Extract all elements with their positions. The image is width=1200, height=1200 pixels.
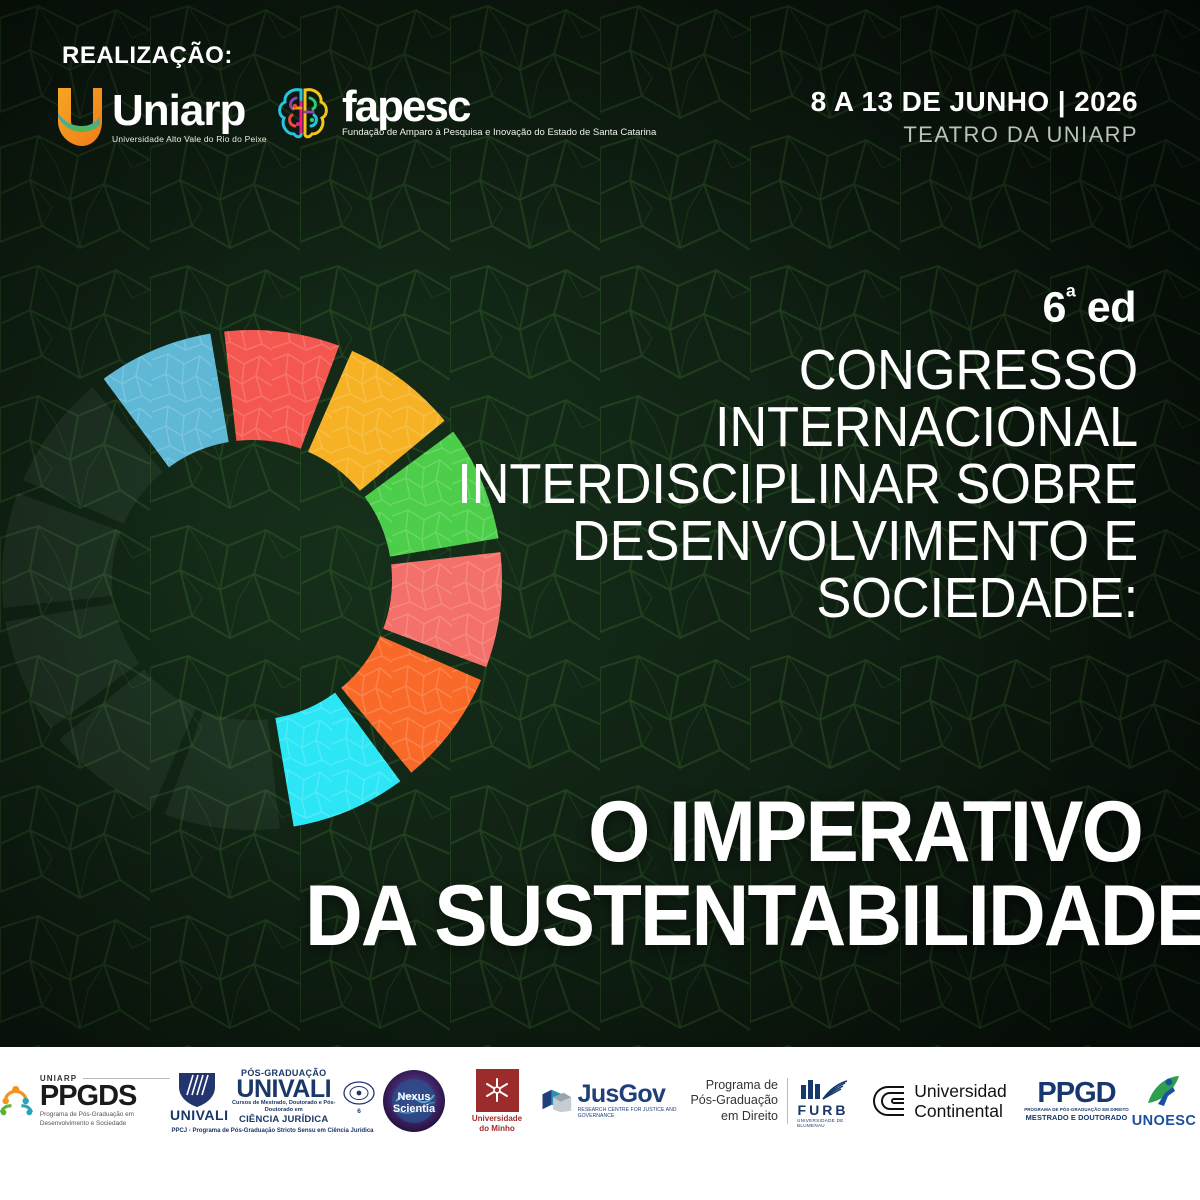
footer: UNIARP PPGDS Programa de Pós-Graduação e… xyxy=(0,1047,1200,1200)
edition-number: 6 xyxy=(1042,283,1065,331)
minho-mark xyxy=(476,1069,519,1112)
jusgov-wordmark: JusGov xyxy=(578,1083,681,1107)
event-venue: TEATRO DA UNIARP xyxy=(811,122,1138,148)
svg-text:6: 6 xyxy=(357,1108,361,1114)
sponsor-jusgov: JusGov RESEARCH CENTRE FOR JUSTICE AND G… xyxy=(541,1058,681,1144)
title-line-1: CONGRESSO xyxy=(402,342,1138,399)
congress-title: CONGRESSO INTERNACIONAL INTERDISCIPLINAR… xyxy=(402,342,1138,627)
ppgds-rule xyxy=(83,1078,170,1079)
jusgov-tagline: RESEARCH CENTRE FOR JUSTICE AND GOVERNAN… xyxy=(578,1107,681,1119)
uniarp-u-icon xyxy=(52,86,104,148)
edition-badge: 6ª ed xyxy=(1042,282,1136,332)
header: REALIZAÇÃO: Uniarp Universidade Alto Val… xyxy=(0,0,1200,180)
furb-tagline: UNIVERSIDADE DE BLUMENAU xyxy=(797,1118,849,1128)
sponsor-ppgds: UNIARP PPGDS Programa de Pós-Graduação e… xyxy=(0,1058,170,1144)
uniarp-wordmark: Uniarp xyxy=(112,90,267,132)
sponsor-minho: Universidadedo Minho xyxy=(453,1058,541,1144)
univali-courses-label: Cursos de Mestrado, Doutorado e Pós-Dout… xyxy=(228,1100,339,1114)
sponsor-continental: UniversidadContinental xyxy=(849,1058,1024,1144)
uniarp-tagline: Universidade Alto Vale do Rio do Peixe xyxy=(112,134,267,144)
nexus-scientia-icon: Nexus Scientia xyxy=(382,1069,446,1133)
continental-label: UniversidadContinental xyxy=(914,1081,1006,1122)
title-line-3: INTERDISCIPLINAR SOBRE xyxy=(402,456,1138,513)
edition-suffix: ed xyxy=(1075,283,1136,331)
minho-star-icon xyxy=(483,1076,511,1104)
edition-ordinal: ª xyxy=(1066,282,1076,312)
jusgov-cube-icon xyxy=(541,1084,573,1118)
sponsor-univali: UNIVALI PÓS-GRADUAÇÃO UNIVALI Cursos de … xyxy=(170,1058,375,1144)
nexus-label-1: Nexus xyxy=(397,1091,430,1103)
continental-c-icon xyxy=(866,1084,906,1118)
ppgds-tagline: Programa de Pós-Graduação em Desenvolvim… xyxy=(40,1111,170,1128)
univali-program-label: PPCJ - Programa de Pós-Graduação Stricto… xyxy=(171,1128,373,1134)
furb-program-label: Programa de Pós-Graduação em Direito xyxy=(681,1078,788,1125)
ppgd-program-label: PROGRAMA DE PÓS-GRADUAÇÃO EM DIREITO xyxy=(1024,1107,1129,1112)
title-line-5: SOCIEDADE: xyxy=(402,570,1138,627)
univali-shield-icon xyxy=(177,1071,217,1107)
univali-area-label: CIÊNCIA JURÍDICA xyxy=(239,1114,328,1125)
ppgds-people-icon xyxy=(0,1079,33,1123)
realizacao-label: REALIZAÇÃO: xyxy=(62,42,233,70)
brain-icon xyxy=(272,82,334,144)
subtitle-line-2: DA SUSTENTABILIDADE xyxy=(305,874,1142,958)
unoesc-figure-icon xyxy=(1145,1073,1183,1111)
event-datebox: 8 A 13 DE JUNHO | 2026 TEATRO DA UNIARP xyxy=(811,86,1138,148)
fapesc-wordmark: fapesc xyxy=(342,87,656,127)
ppgd-degree-label: MESTRADO E DOUTORADO xyxy=(1026,1113,1128,1122)
sponsor-logos: UNIARP PPGDS Programa de Pós-Graduação e… xyxy=(0,1055,1200,1147)
minho-label: Universidadedo Minho xyxy=(472,1114,522,1133)
title-line-2: INTERNACIONAL xyxy=(402,399,1138,456)
unoesc-wordmark: UNOESC xyxy=(1132,1113,1196,1129)
sponsor-ppgd: PPGD PROGRAMA DE PÓS-GRADUAÇÃO EM DIREIT… xyxy=(1024,1058,1129,1144)
fapesc-logo: fapesc Fundação de Amparo à Pesquisa e I… xyxy=(272,82,656,144)
sponsor-unoesc: UNOESC xyxy=(1129,1058,1199,1144)
furb-wordmark: FURB xyxy=(798,1103,849,1117)
event-date: 8 A 13 DE JUNHO | 2026 xyxy=(811,86,1138,118)
univali-big-label: UNIVALI xyxy=(236,1078,331,1101)
uniarp-logo: Uniarp Universidade Alto Vale do Rio do … xyxy=(52,86,267,148)
ppgd-wordmark: PPGD xyxy=(1037,1080,1115,1108)
ppgds-wordmark: PPGDS xyxy=(40,1083,170,1111)
furb-book-icon xyxy=(797,1075,849,1103)
title-line-4: DESENVOLVIMENTO E xyxy=(402,513,1138,570)
event-poster: REALIZAÇÃO: Uniarp Universidade Alto Val… xyxy=(0,0,1200,1200)
sponsor-furb: Programa de Pós-Graduação em Direito FUR… xyxy=(681,1058,849,1144)
fapesc-tagline: Fundação de Amparo à Pesquisa e Inovação… xyxy=(342,127,656,139)
subtitle-line-1: O IMPERATIVO xyxy=(305,790,1142,874)
nexus-label-2: Scientia xyxy=(393,1103,436,1115)
congress-subtitle: O IMPERATIVO DA SUSTENTABILIDADE xyxy=(305,790,1142,959)
univali-wordmark: UNIVALI xyxy=(170,1107,228,1123)
capes-seal-icon: 6 xyxy=(343,1080,375,1114)
sponsor-nexus-scientia: Nexus Scientia xyxy=(375,1058,453,1144)
